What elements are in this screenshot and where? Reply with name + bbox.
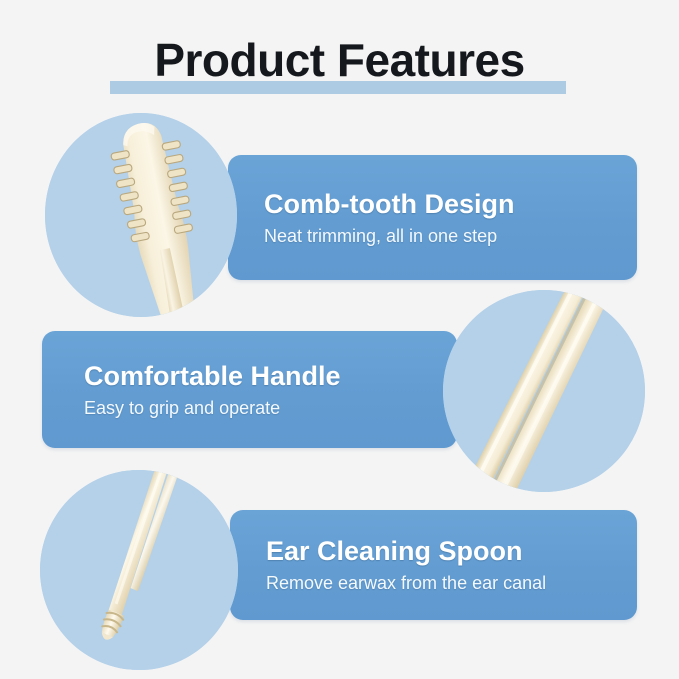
feature-title: Comfortable Handle xyxy=(84,360,457,393)
caption-inner: Comb-tooth Design Neat trimming, all in … xyxy=(228,188,637,248)
feature-title: Comb-tooth Design xyxy=(264,188,637,221)
page-title: Product Features xyxy=(154,34,524,86)
product-features-infographic: Product Features xyxy=(0,0,679,679)
page-title-wrap: Product Features xyxy=(0,34,679,86)
comb-tooth-head-photo xyxy=(45,113,237,317)
handle-sticks-photo xyxy=(443,290,645,492)
caption-card-comfortable-handle: Comfortable Handle Easy to grip and oper… xyxy=(42,331,457,448)
caption-card-comb-tooth-design: Comb-tooth Design Neat trimming, all in … xyxy=(228,155,637,280)
feature-subtitle: Remove earwax from the ear canal xyxy=(266,571,637,595)
caption-card-ear-cleaning-spoon: Ear Cleaning Spoon Remove earwax from th… xyxy=(230,510,637,620)
feature-subtitle: Easy to grip and operate xyxy=(84,396,457,420)
caption-inner: Ear Cleaning Spoon Remove earwax from th… xyxy=(230,535,637,595)
ear-spoon-tip-photo xyxy=(40,470,238,670)
caption-inner: Comfortable Handle Easy to grip and oper… xyxy=(42,360,457,420)
feature-title: Ear Cleaning Spoon xyxy=(266,535,637,568)
feature-subtitle: Neat trimming, all in one step xyxy=(264,224,637,248)
